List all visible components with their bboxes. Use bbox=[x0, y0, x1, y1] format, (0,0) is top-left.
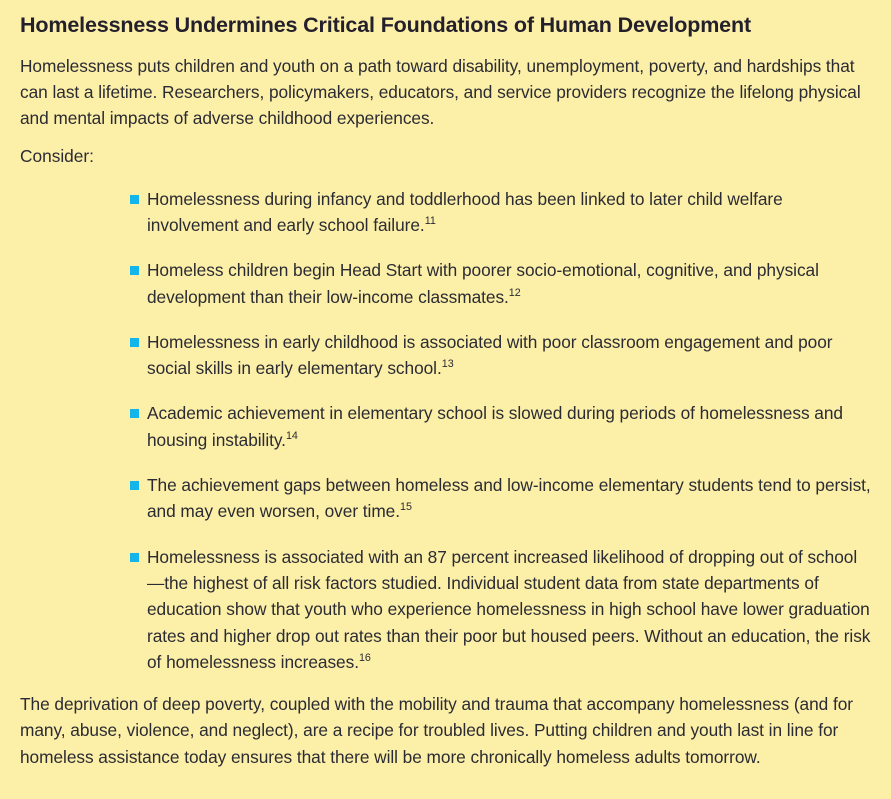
list-item-text: Academic achievement in elementary schoo… bbox=[147, 403, 843, 449]
square-bullet-icon bbox=[130, 195, 139, 204]
evidence-bullet-list: Homelessness during infancy and toddlerh… bbox=[20, 186, 873, 675]
list-item: Homelessness during infancy and toddlerh… bbox=[130, 186, 873, 239]
closing-paragraph: The deprivation of deep poverty, coupled… bbox=[20, 691, 880, 770]
intro-paragraph: Homelessness puts children and youth on … bbox=[20, 53, 886, 132]
footnote-reference: 16 bbox=[359, 652, 371, 664]
square-bullet-icon bbox=[130, 481, 139, 490]
list-item: Homelessness in early childhood is assoc… bbox=[130, 329, 873, 382]
list-item-text: Homelessness is associated with an 87 pe… bbox=[147, 547, 870, 672]
list-item-text: Homeless children begin Head Start with … bbox=[147, 260, 819, 306]
footnote-reference: 14 bbox=[286, 430, 298, 442]
square-bullet-icon bbox=[130, 338, 139, 347]
list-item: Homelessness is associated with an 87 pe… bbox=[130, 544, 873, 675]
list-item: Homeless children begin Head Start with … bbox=[130, 257, 873, 310]
footnote-reference: 15 bbox=[400, 502, 412, 514]
square-bullet-icon bbox=[130, 266, 139, 275]
consider-label: Consider: bbox=[20, 143, 873, 169]
list-item-text: Homelessness during infancy and toddlerh… bbox=[147, 189, 783, 235]
footnote-reference: 12 bbox=[509, 287, 521, 299]
document-page: Homelessness Undermines Critical Foundat… bbox=[0, 0, 891, 799]
footnote-reference: 11 bbox=[425, 215, 436, 227]
list-item-text: The achievement gaps between homeless an… bbox=[147, 475, 871, 521]
list-item: The achievement gaps between homeless an… bbox=[130, 472, 873, 525]
square-bullet-icon bbox=[130, 409, 139, 418]
page-title: Homelessness Undermines Critical Foundat… bbox=[20, 12, 873, 39]
square-bullet-icon bbox=[130, 553, 139, 562]
footnote-reference: 13 bbox=[442, 358, 454, 370]
list-item: Academic achievement in elementary schoo… bbox=[130, 400, 873, 453]
list-item-text: Homelessness in early childhood is assoc… bbox=[147, 332, 832, 378]
